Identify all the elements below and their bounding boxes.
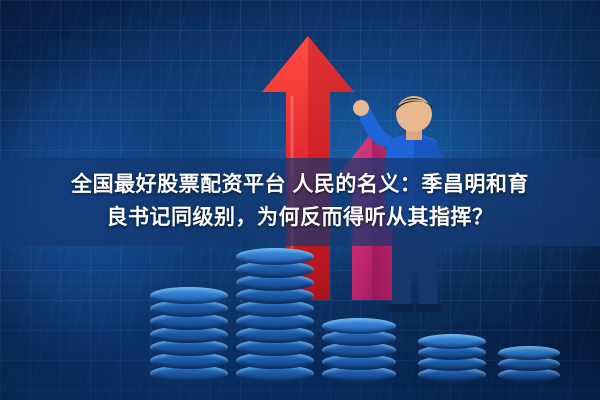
caption-overlay: 全国最好股票配资平台 人民的名义：季昌明和育 良书记同级别，为何反而得听从其指挥… xyxy=(0,158,600,246)
caption-line-1: 全国最好股票配资平台 人民的名义：季昌明和育 xyxy=(0,168,600,201)
image-canvas: 全国最好股票配资平台 人民的名义：季昌明和育 良书记同级别，为何反而得听从其指挥… xyxy=(0,0,600,400)
coin-stack-3 xyxy=(322,292,396,382)
coin-stack-4 xyxy=(418,302,486,382)
coin-stack-5 xyxy=(498,312,560,382)
coin-stack-2 xyxy=(236,232,314,382)
coin-stack-1 xyxy=(150,272,228,382)
caption-line-2: 良书记同级别，为何反而得听从其指挥？ xyxy=(0,201,600,234)
